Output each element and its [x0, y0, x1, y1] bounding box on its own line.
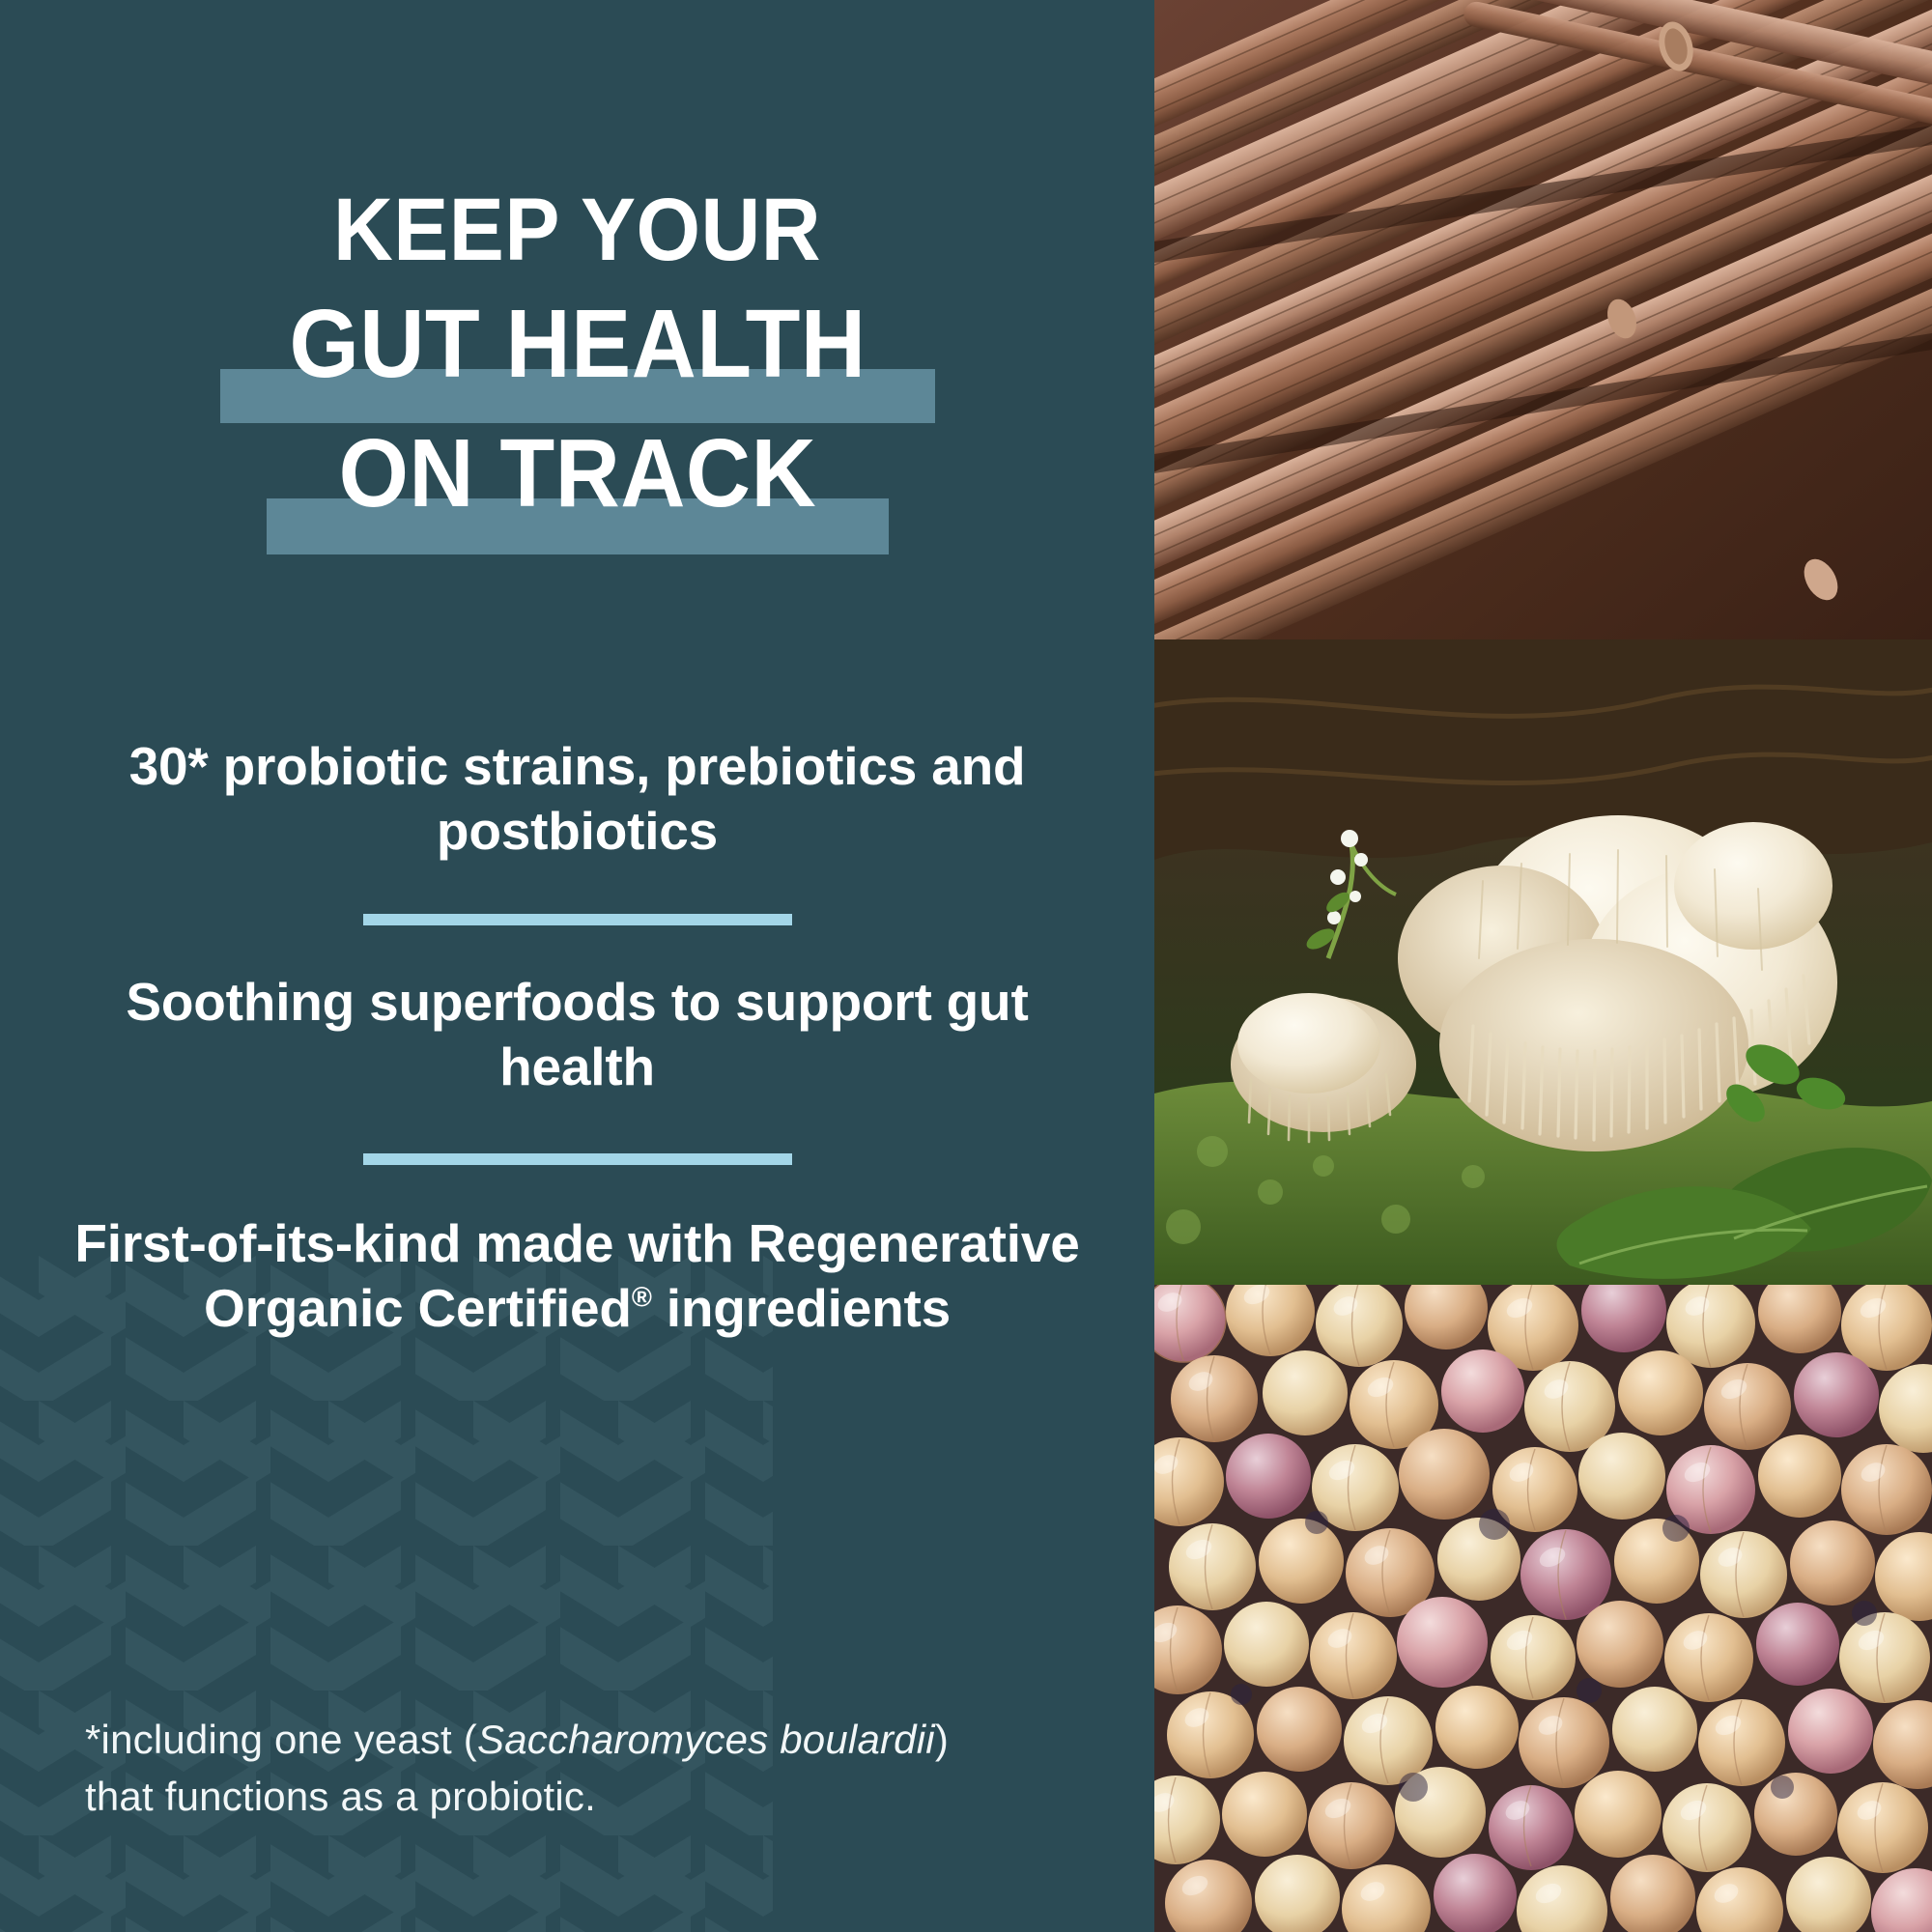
poster-root: KEEP YOUR GUT HEALTH ON TRACK 30* probio…	[0, 0, 1932, 1932]
right-image-panel	[1154, 0, 1932, 1932]
registered-trademark-mark: ®	[632, 1283, 652, 1314]
left-content-panel: KEEP YOUR GUT HEALTH ON TRACK 30* probio…	[0, 0, 1154, 1932]
headline-line-3-text: ON TRACK	[338, 429, 816, 518]
footnote-text: *including one yeast (Saccharomyces boul…	[85, 1711, 974, 1826]
headline-line-3: ON TRACK	[0, 429, 1154, 547]
benefit-divider-1	[363, 914, 792, 925]
photo-coriander-seeds	[1154, 1285, 1932, 1932]
photo-lions-mane-mushroom	[1154, 639, 1932, 1285]
benefit-item-3: First-of-its-kind made with Regenerative…	[0, 1211, 1154, 1341]
photo-licorice-root	[1154, 0, 1932, 639]
chevron-watermark-pattern	[0, 1256, 773, 1932]
headline-line-2-text: GUT HEALTH	[289, 299, 866, 388]
headline-line-1: KEEP YOUR	[0, 189, 1154, 290]
benefit-item-1: 30* probiotic strains, prebiotics and po…	[0, 734, 1154, 864]
headline-block: KEEP YOUR GUT HEALTH ON TRACK	[0, 189, 1154, 547]
benefits-list: 30* probiotic strains, prebiotics and po…	[0, 734, 1154, 1342]
headline-line-1-text: KEEP YOUR	[333, 189, 821, 271]
benefit-item-2: Soothing superfoods to support gut healt…	[0, 970, 1154, 1099]
footnote-species-name: Saccharomyces boulardii	[477, 1717, 935, 1762]
benefit-item-3-tail: ingredients	[652, 1278, 951, 1338]
headline-line-2: GUT HEALTH	[0, 299, 1154, 417]
benefit-divider-2	[363, 1153, 792, 1165]
footnote-prefix: *including one yeast (	[85, 1717, 477, 1762]
